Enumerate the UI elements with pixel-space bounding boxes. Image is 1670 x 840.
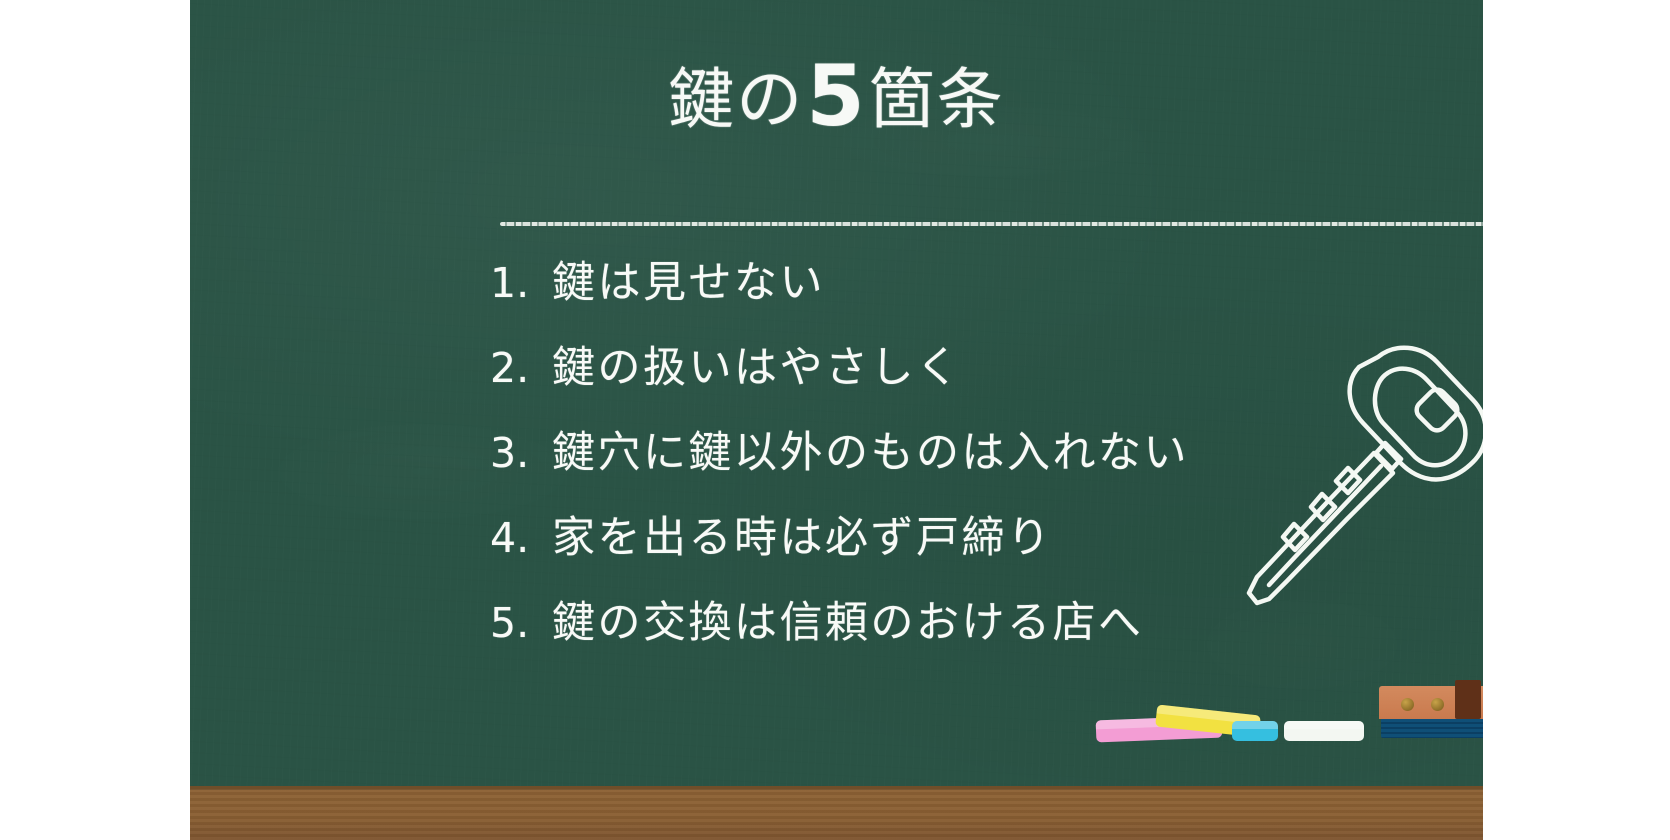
list-item-label: 家を出る時は必ず戸締り	[552, 517, 1053, 560]
eraser-felt	[1381, 719, 1483, 738]
list-item-number: 1.	[490, 263, 552, 304]
list-item-number: 3.	[490, 433, 552, 474]
chalk-ledge	[190, 786, 1483, 840]
title-number: 5	[804, 47, 868, 145]
blackboard: 鍵の5箇条 1. 鍵は見せない 2. 鍵の扱いはやさしく 3. 鍵穴に鍵以外のも…	[190, 0, 1483, 786]
title-suffix: 箇条	[869, 61, 1005, 138]
list-item: 4. 家を出る時は必ず戸締り	[490, 517, 1310, 602]
key-icon	[1235, 335, 1483, 620]
list-item-label: 鍵の交換は信頼のおける店へ	[552, 602, 1144, 645]
list-item-label: 鍵穴に鍵以外のものは入れない	[552, 432, 1189, 475]
list-item: 5. 鍵の交換は信頼のおける店へ	[490, 602, 1310, 687]
list-item-label: 鍵の扱いはやさしく	[552, 347, 962, 390]
list-item: 3. 鍵穴に鍵以外のものは入れない	[490, 432, 1310, 517]
list-item-number: 2.	[490, 348, 552, 389]
chalk-stick-cyan	[1232, 721, 1278, 741]
page-title: 鍵の5箇条	[190, 52, 1483, 140]
rules-list: 1. 鍵は見せない 2. 鍵の扱いはやさしく 3. 鍵穴に鍵以外のものは入れない…	[490, 262, 1310, 687]
eraser-strap	[1455, 680, 1481, 719]
ledge-lip	[190, 786, 1483, 790]
eraser-stud	[1431, 698, 1444, 711]
eraser-stud	[1401, 698, 1414, 711]
poster-canvas: 鍵の5箇条 1. 鍵は見せない 2. 鍵の扱いはやさしく 3. 鍵穴に鍵以外のも…	[0, 0, 1670, 840]
list-item: 2. 鍵の扱いはやさしく	[490, 347, 1310, 432]
list-item: 1. 鍵は見せない	[490, 262, 1310, 347]
list-item-number: 4.	[490, 518, 552, 559]
title-prefix: 鍵の	[668, 61, 804, 138]
list-item-label: 鍵は見せない	[552, 262, 825, 305]
chalk-stick-white	[1284, 721, 1364, 741]
chalk-divider-line	[500, 222, 1483, 226]
list-item-number: 5.	[490, 603, 552, 644]
blackboard-eraser	[1379, 686, 1483, 738]
